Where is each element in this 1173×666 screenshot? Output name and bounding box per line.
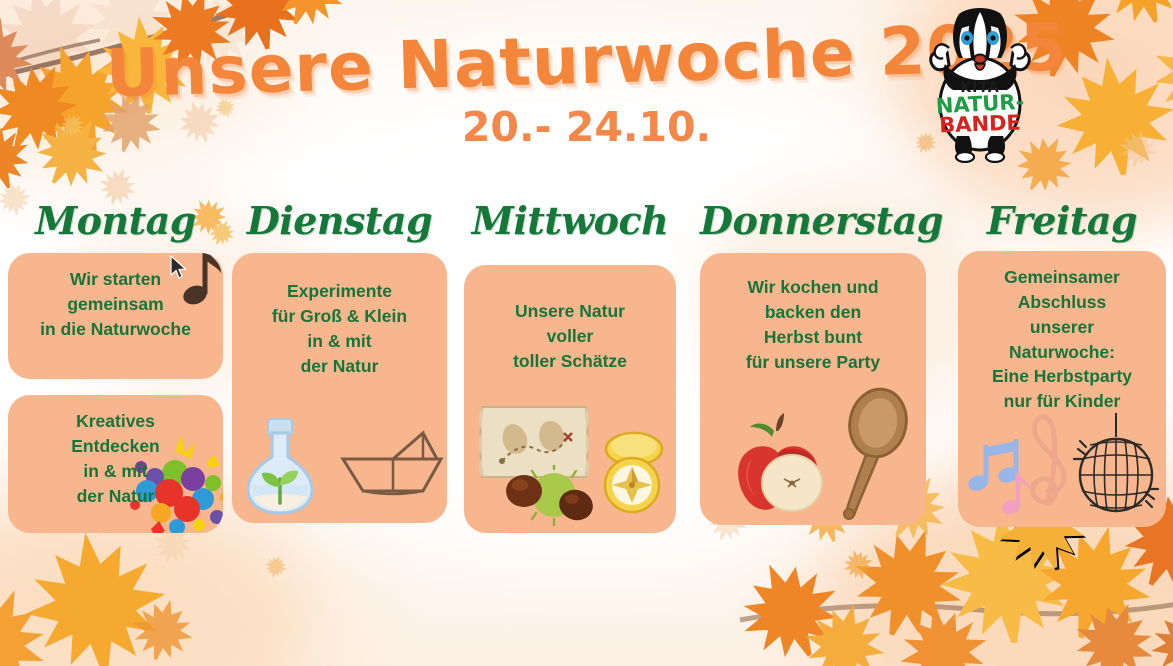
activity-card-montag-1[interactable]: Wir starten gemeinsam in die Naturwoche [8,253,223,379]
mouse-cursor [170,255,188,281]
flask-with-sprout-icon [238,413,322,517]
kita-natur-bande-logo: KITA NATUR- BANDE [925,8,1035,163]
treble-clef-icon [1020,407,1076,511]
wooden-spoon-icon [828,383,914,523]
music-notes-icon [964,439,1038,519]
activity-card-freitag-1[interactable]: Gemeinsamer Abschluss unserer Naturwoche… [958,251,1166,527]
week-schedule-grid: Montag Wir starten gemeinsam in die Natu… [0,198,1173,568]
compass-icon [594,429,670,515]
day-heading-donnerstag: Donnerstag [700,198,926,243]
logo-line-bande: BANDE [925,110,1036,138]
day-heading-dienstag: Dienstag [232,198,447,243]
activity-text: Experimente für Groß & Klein in & mit de… [232,253,447,378]
activity-text: Kreatives Entdecken in & mit der Natur [8,395,223,508]
day-column-dienstag: Dienstag Experimente für Groß & Klein in… [232,198,447,523]
treasure-map-icon [472,397,596,489]
disco-ball-icon [1068,409,1164,521]
day-column-montag: Montag Wir starten gemeinsam in die Natu… [8,198,223,533]
activity-text: Gemeinsamer Abschluss unserer Naturwoche… [958,251,1166,414]
day-column-donnerstag: Donnerstag Wir kochen und backen den Her… [700,198,926,525]
activity-card-montag-2[interactable]: Kreatives Entdecken in & mit der Natur [8,395,223,533]
activity-text: Unsere Natur voller toller Schätze [464,265,676,374]
paper-boat-icon [337,425,447,501]
activity-card-mittwoch-1[interactable]: Unsere Natur voller toller Schätze [464,265,676,533]
day-column-mittwoch: Mittwoch Unsere Natur voller toller Schä… [464,198,676,533]
day-heading-montag: Montag [8,198,223,243]
day-heading-mittwoch: Mittwoch [464,198,676,243]
activity-card-donnerstag-1[interactable]: Wir kochen und backen den Herbst bunt fü… [700,253,926,525]
day-column-freitag: Freitag Gemeinsamer Abschluss unserer Na… [958,198,1166,527]
activity-card-dienstag-1[interactable]: Experimente für Groß & Klein in & mit de… [232,253,447,523]
activity-text: Wir kochen und backen den Herbst bunt fü… [700,253,926,374]
day-heading-freitag: Freitag [958,198,1166,243]
activity-text: Wir starten gemeinsam in die Naturwoche [8,253,223,342]
chestnuts-icon [502,465,598,527]
poster-canvas: Unsere Naturwoche 2025 20.- 24.10. [0,0,1173,666]
apple-icon [716,409,838,515]
